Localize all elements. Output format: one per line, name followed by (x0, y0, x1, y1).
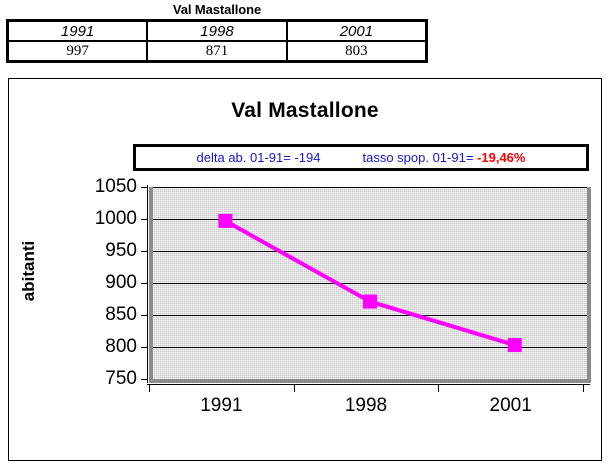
plot-area (149, 187, 591, 383)
y-axis-tick (141, 283, 148, 284)
annotation-rate: tasso spop. 01-91= -19,46% (362, 150, 525, 165)
x-axis-tick-label: 2001 (461, 395, 561, 417)
x-axis-tick (438, 384, 439, 392)
y-axis-tick (141, 347, 148, 348)
y-axis-tick-label: 900 (77, 273, 137, 292)
x-axis-tick (583, 384, 584, 392)
y-axis-tick (141, 219, 148, 220)
data-point-marker (508, 338, 522, 352)
y-axis-tick (141, 379, 148, 380)
x-axis-line (147, 384, 590, 385)
table-row-years: 1991 1998 2001 (8, 21, 427, 42)
table-caption: Val Mastallone (6, 2, 428, 19)
x-axis-tick-label: 1991 (171, 395, 271, 417)
y-axis-tick-label: 1050 (77, 177, 137, 196)
y-axis-tick-label: 950 (77, 241, 137, 260)
y-axis-tick-label: 850 (77, 305, 137, 324)
annotation-delta: delta ab. 01-91= -194 (197, 150, 321, 165)
table-value-cell: 803 (287, 41, 427, 62)
y-axis-labels: 10501000950900850800750 (71, 79, 137, 462)
x-axis-tick (149, 384, 150, 392)
x-axis-tick (294, 384, 295, 392)
table-header-cell: 1998 (147, 21, 287, 42)
y-axis-title: abitanti (19, 223, 39, 319)
series-line (225, 221, 514, 345)
population-table: 1991 1998 2001 997 871 803 (6, 19, 428, 63)
table-row-values: 997 871 803 (8, 41, 427, 62)
table-value-cell: 997 (8, 41, 148, 62)
table-header-cell: 1991 (8, 21, 148, 42)
chart-frame: Val Mastallone delta ab. 01-91= -194 tas… (8, 78, 602, 461)
y-axis-tick-label: 800 (77, 337, 137, 356)
y-axis-tick (141, 251, 148, 252)
y-axis-tick (141, 187, 148, 188)
y-axis-tick-label: 750 (77, 369, 137, 388)
series-line-chart (153, 187, 587, 379)
data-point-marker (363, 295, 377, 309)
annotation-rate-label: tasso spop. 01-91= (362, 150, 477, 165)
annotation-rate-value: -19,46% (477, 150, 525, 165)
y-axis-tick-label: 1000 (77, 209, 137, 228)
table-value-cell: 871 (147, 41, 287, 62)
data-point-marker (218, 214, 232, 228)
y-axis-tick (141, 315, 148, 316)
annotation-box: delta ab. 01-91= -194 tasso spop. 01-91=… (133, 144, 589, 171)
table-header-cell: 2001 (287, 21, 427, 42)
x-axis-tick-label: 1998 (316, 395, 416, 417)
y-axis-line (147, 185, 148, 383)
summary-table-block: Val Mastallone 1991 1998 2001 997 871 80… (6, 2, 428, 63)
